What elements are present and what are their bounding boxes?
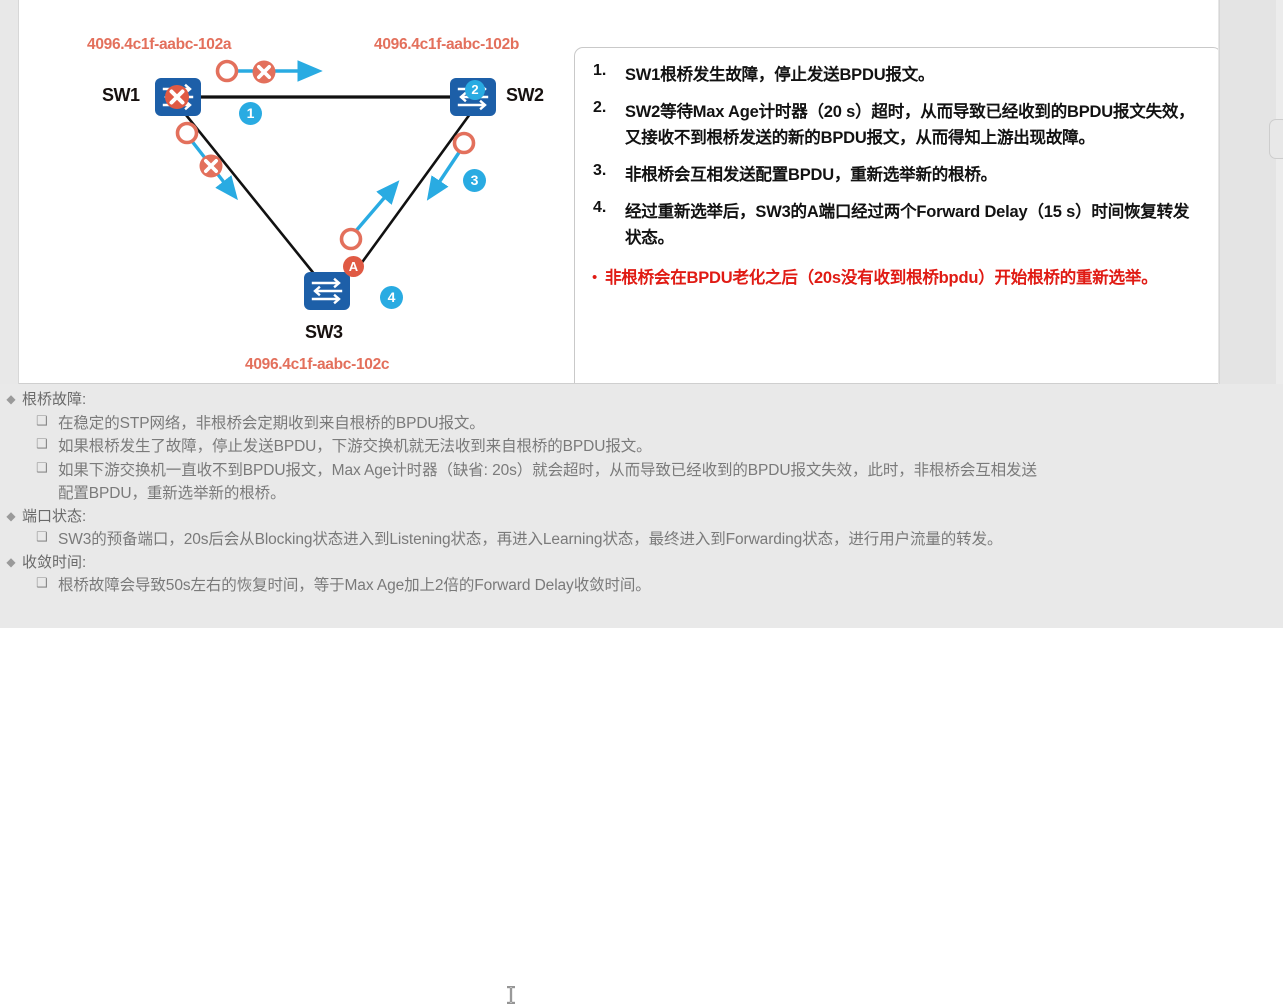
bullet-level1-icon: ◆ xyxy=(0,552,22,573)
blocked-marker-top xyxy=(253,61,276,84)
slide-right-edge xyxy=(1276,0,1283,384)
notes-item: ❑ SW3的预备端口，20s后会从Blocking状态进入到Listening状… xyxy=(0,528,1283,552)
note-bullet-icon: • xyxy=(587,265,605,291)
blocked-marker-left xyxy=(200,155,223,178)
link-sw1-sw3 xyxy=(182,110,315,275)
port-circle-sw1-left xyxy=(178,124,197,143)
notes-item: ❑ 如果根桥发生了故障，停止发送BPDU，下游交换机就无法收到来自根桥的BPDU… xyxy=(0,435,1283,459)
port-circle-sw3 xyxy=(342,230,361,249)
notes-item: ❑ 如果下游交换机一直收不到BPDU报文，Max Age计时器（缺省: 20s）… xyxy=(0,459,1283,483)
bullet-level2-icon: ❑ xyxy=(36,459,58,478)
explanation-step: 2. SW2等待Max Age计时器（20 s）超时，从而导致已经收到的BPDU… xyxy=(587,99,1205,151)
step-text: 经过重新选举后，SW3的A端口经过两个Forward Delay（15 s）时间… xyxy=(625,199,1205,251)
network-topology-diagram: 4096.4c1f-aabc-102a 4096.4c1f-aabc-102b … xyxy=(19,0,559,383)
step-badge-3: 3 xyxy=(463,169,486,192)
switch-icon-sw3[interactable] xyxy=(304,272,350,310)
bullet-level2-icon: ❑ xyxy=(36,412,58,431)
notes-item-text: 配置BPDU，重新选举新的根桥。 xyxy=(58,482,1283,506)
step-badge-1: 1 xyxy=(239,102,262,125)
note-text: 非根桥会在BPDU老化之后（20s没有收到根桥bpdu）开始根桥的重新选举。 xyxy=(605,265,1205,291)
step-text: SW1根桥发生故障，停止发送BPDU报文。 xyxy=(625,62,1205,88)
notes-item: ❑ 在稳定的STP网络，非根桥会定期收到来自根桥的BPDU报文。 xyxy=(0,412,1283,436)
notes-heading: ◆ 端口状态: xyxy=(0,506,1283,529)
speaker-notes-area[interactable]: ◆ 根桥故障: ❑ 在稳定的STP网络，非根桥会定期收到来自根桥的BPDU报文。… xyxy=(0,384,1283,628)
slide-left-gutter xyxy=(0,0,19,384)
step-number: 4. xyxy=(587,199,625,217)
notes-heading-text: 端口状态: xyxy=(22,506,86,529)
notes-heading: ◆ 收敛时间: xyxy=(0,552,1283,575)
text-cursor-icon xyxy=(505,986,517,1004)
bullet-level2-icon: ❑ xyxy=(36,574,58,593)
bullet-level1-icon: ◆ xyxy=(0,389,22,410)
notes-item-text: 如果根桥发生了故障，停止发送BPDU，下游交换机就无法收到来自根桥的BPDU报文… xyxy=(58,435,1283,459)
notes-heading-text: 收敛时间: xyxy=(22,552,86,575)
arrow-bpdu-sw3-up xyxy=(355,190,391,232)
explanation-step: 3. 非根桥会互相发送配置BPDU，重新选举新的根桥。 xyxy=(587,162,1205,188)
side-panel-toggle[interactable] xyxy=(1269,119,1283,159)
switch-label-sw3: SW3 xyxy=(305,322,343,343)
step-text: 非根桥会互相发送配置BPDU，重新选举新的根桥。 xyxy=(625,162,1205,188)
notes-heading-text: 根桥故障: xyxy=(22,389,86,412)
topology-links-svg xyxy=(19,0,559,383)
notes-item-text: SW3的预备端口，20s后会从Blocking状态进入到Listening状态，… xyxy=(58,528,1283,552)
notes-item-continuation: 配置BPDU，重新选举新的根桥。 xyxy=(0,482,1283,506)
step-badge-4: 4 xyxy=(380,286,403,309)
notes-content: ◆ 根桥故障: ❑ 在稳定的STP网络，非根桥会定期收到来自根桥的BPDU报文。… xyxy=(0,384,1283,598)
explanation-card: 1. SW1根桥发生故障，停止发送BPDU报文。 2. SW2等待Max Age… xyxy=(574,47,1218,384)
bullet-level2-icon: ❑ xyxy=(36,435,58,454)
notes-item-text: 根桥故障会导致50s左右的恢复时间，等于Max Age加上2倍的Forward … xyxy=(58,574,1283,598)
step-text: SW2等待Max Age计时器（20 s）超时，从而导致已经收到的BPDU报文失… xyxy=(625,99,1205,151)
explanation-step: 1. SW1根桥发生故障，停止发送BPDU报文。 xyxy=(587,62,1205,88)
application-root: 4096.4c1f-aabc-102a 4096.4c1f-aabc-102b … xyxy=(0,0,1283,628)
step-number: 1. xyxy=(587,62,625,80)
step-badge-2: 2 xyxy=(465,80,485,100)
switch-label-sw2: SW2 xyxy=(506,85,544,106)
slide-right-pane xyxy=(1219,0,1283,384)
step-number: 3. xyxy=(587,162,625,180)
mac-label-sw2: 4096.4c1f-aabc-102b xyxy=(374,36,519,54)
port-circle-sw1-top xyxy=(218,62,237,81)
failure-x-overlay-sw1 xyxy=(155,78,201,116)
switch-glyph-sw3 xyxy=(304,272,350,310)
link-sw2-sw3 xyxy=(355,114,470,272)
notes-item: ❑ 根桥故障会导致50s左右的恢复时间，等于Max Age加上2倍的Forwar… xyxy=(0,574,1283,598)
explanation-step: 4. 经过重新选举后，SW3的A端口经过两个Forward Delay（15 s… xyxy=(587,199,1205,251)
mac-label-sw1: 4096.4c1f-aabc-102a xyxy=(87,36,231,54)
slide-surface: 4096.4c1f-aabc-102a 4096.4c1f-aabc-102b … xyxy=(19,0,1218,384)
switch-label-sw1: SW1 xyxy=(102,85,140,106)
bullet-level1-icon: ◆ xyxy=(0,506,22,527)
notes-item-text: 如果下游交换机一直收不到BPDU报文，Max Age计时器（缺省: 20s）就会… xyxy=(58,459,1283,483)
mac-label-sw3: 4096.4c1f-aabc-102c xyxy=(245,356,389,374)
notes-item-text: 在稳定的STP网络，非根桥会定期收到来自根桥的BPDU报文。 xyxy=(58,412,1283,436)
port-label-a: A xyxy=(343,256,364,277)
bullet-level2-icon: ❑ xyxy=(36,528,58,547)
switch-icon-sw1[interactable] xyxy=(155,78,201,116)
explanation-note: • 非根桥会在BPDU老化之后（20s没有收到根桥bpdu）开始根桥的重新选举。 xyxy=(587,265,1205,291)
step-number: 2. xyxy=(587,99,625,117)
notes-heading: ◆ 根桥故障: xyxy=(0,389,1283,412)
port-circle-sw2 xyxy=(455,134,474,153)
